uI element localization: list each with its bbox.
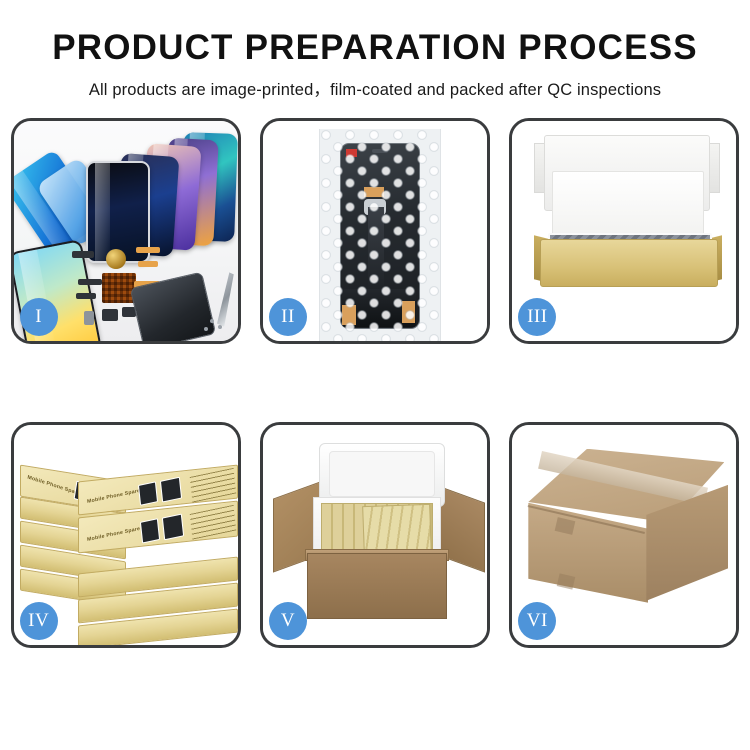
box-artwork-thumbnail (160, 476, 182, 502)
carton-front-panel (528, 503, 648, 603)
small-part-icon (78, 279, 102, 285)
step-badge-2: II (269, 298, 307, 336)
box-spec-lines (189, 505, 235, 540)
product-preparation-process-page: PRODUCT PREPARATION PROCESS All products… (0, 0, 750, 750)
box-stack: Mobile Phone Spare Parts Mobile Phone Sp… (20, 447, 238, 633)
step-badge-5: V (269, 602, 307, 640)
step-badge-1: I (20, 298, 58, 336)
box-artwork-thumbnail (138, 481, 158, 505)
screw-icon (204, 327, 208, 331)
page-subtitle: All products are image-printed，film-coat… (0, 76, 750, 100)
process-step-panel-2: II (260, 118, 490, 344)
box-artwork-thumbnail (162, 513, 184, 540)
small-part-icon (72, 251, 94, 258)
small-part-icon (76, 293, 96, 299)
screw-icon (210, 319, 214, 323)
process-step-panel-4: Mobile Phone Spare Parts Mobile Phone Sp… (11, 422, 241, 648)
page-header: PRODUCT PREPARATION PROCESS All products… (0, 0, 750, 100)
chip-array-part-icon (102, 273, 136, 303)
flex-cable-part-icon (138, 261, 158, 267)
bubble-texture (320, 129, 440, 341)
process-step-panel-5: V (260, 422, 490, 648)
process-step-grid: I II (4, 118, 746, 648)
page-title: PRODUCT PREPARATION PROCESS (0, 30, 750, 67)
process-step-panel-1: I (11, 118, 241, 344)
small-part-icon (102, 309, 118, 321)
step-badge-6: VI (518, 602, 556, 640)
box-artwork-thumbnail (140, 518, 160, 543)
bubble-wrap-bag (319, 129, 441, 341)
foam-lid-inner (329, 451, 435, 497)
step-badge-3: III (518, 298, 556, 336)
coil-part-icon (106, 249, 126, 269)
carton-marking (557, 573, 576, 589)
gold-box-front-panel (540, 239, 718, 287)
flex-cable-part-icon (136, 247, 160, 253)
small-part-icon (84, 311, 94, 325)
carton-front-panel (307, 553, 447, 619)
process-step-panel-6: VI (509, 422, 739, 648)
process-step-panel-3: III (509, 118, 739, 344)
step-badge-4: IV (20, 602, 58, 640)
box-spec-lines (189, 468, 235, 503)
